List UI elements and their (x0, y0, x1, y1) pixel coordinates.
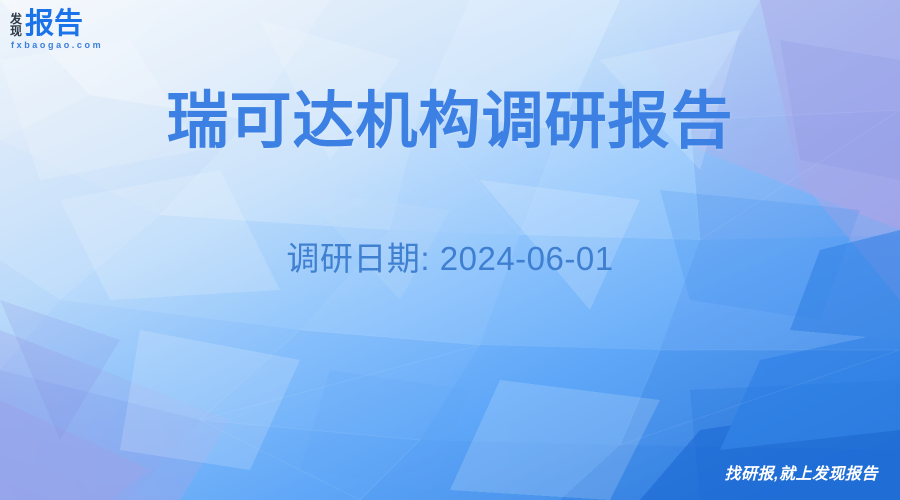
logo-url: fxbaogao.com (11, 40, 103, 50)
brand-logo[interactable]: 发 现 报告 fxbaogao.com (10, 10, 83, 39)
logo-stack-bottom: 现 (10, 26, 22, 38)
page-title: 瑞可达机构调研报告 (0, 88, 900, 156)
logo-wordmark: 报告 (25, 10, 83, 39)
logo-row: 发 现 报告 (10, 10, 83, 39)
report-cover-slide: 发 现 报告 fxbaogao.com 瑞可达机构调研报告 调研日期: 2024… (0, 0, 900, 500)
logo-stacked-characters: 发 现 (10, 12, 22, 38)
survey-date-subtitle: 调研日期: 2024-06-01 (0, 232, 900, 280)
footer-slogan: 找研报,就上发现报告 (725, 460, 878, 484)
